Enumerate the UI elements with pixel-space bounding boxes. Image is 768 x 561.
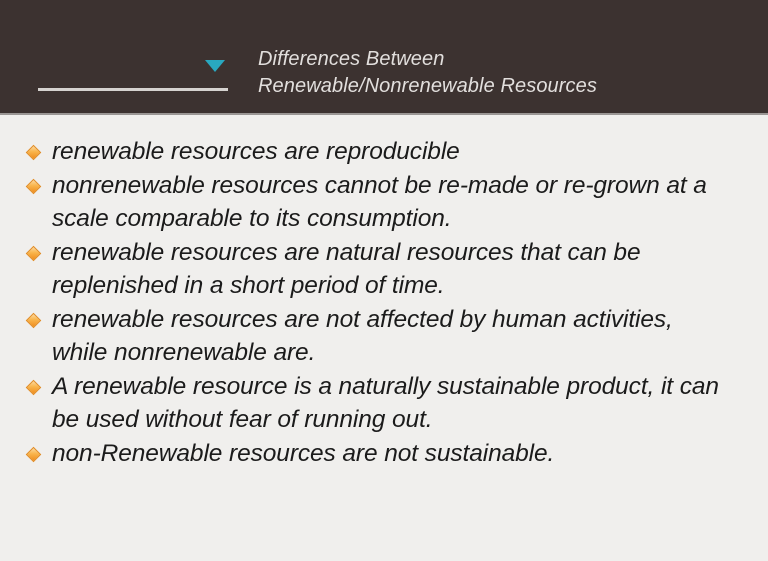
slide-body: renewable resources are reproducible non…: [0, 117, 768, 561]
orange-diamond-bullet-icon: [26, 446, 42, 462]
header-divider-rule: [38, 88, 228, 91]
list-item: renewable resources are natural resource…: [26, 236, 726, 303]
list-item: renewable resources are reproducible: [26, 135, 726, 169]
orange-diamond-bullet-icon: [26, 245, 42, 261]
list-item-text: non-Renewable resources are not sustaina…: [52, 440, 554, 467]
orange-diamond-bullet-icon: [26, 312, 42, 328]
orange-diamond-bullet-icon: [26, 145, 42, 161]
list-item: renewable resources are not affected by …: [26, 303, 726, 370]
chevron-down-icon: [205, 60, 225, 72]
bullet-list: renewable resources are reproducible non…: [26, 135, 726, 470]
slide-header: Differences Between Renewable/Nonrenewab…: [0, 0, 768, 115]
list-item: non-Renewable resources are not sustaina…: [26, 437, 726, 471]
list-item-text: renewable resources are natural resource…: [52, 239, 640, 300]
list-item: A renewable resource is a naturally sust…: [26, 370, 726, 437]
list-item-text: renewable resources are not affected by …: [52, 306, 673, 367]
page-title-line-1: Differences Between: [258, 46, 728, 73]
list-item: nonrenewable resources cannot be re-made…: [26, 169, 726, 236]
page-title: Differences Between Renewable/Nonrenewab…: [258, 46, 728, 100]
list-item-text: nonrenewable resources cannot be re-made…: [52, 172, 707, 233]
list-item-text: renewable resources are reproducible: [52, 138, 460, 165]
list-item-text: A renewable resource is a naturally sust…: [52, 373, 719, 434]
page-title-line-2: Renewable/Nonrenewable Resources: [258, 73, 728, 100]
orange-diamond-bullet-icon: [26, 178, 42, 194]
slide: Differences Between Renewable/Nonrenewab…: [0, 0, 768, 561]
orange-diamond-bullet-icon: [26, 379, 42, 395]
